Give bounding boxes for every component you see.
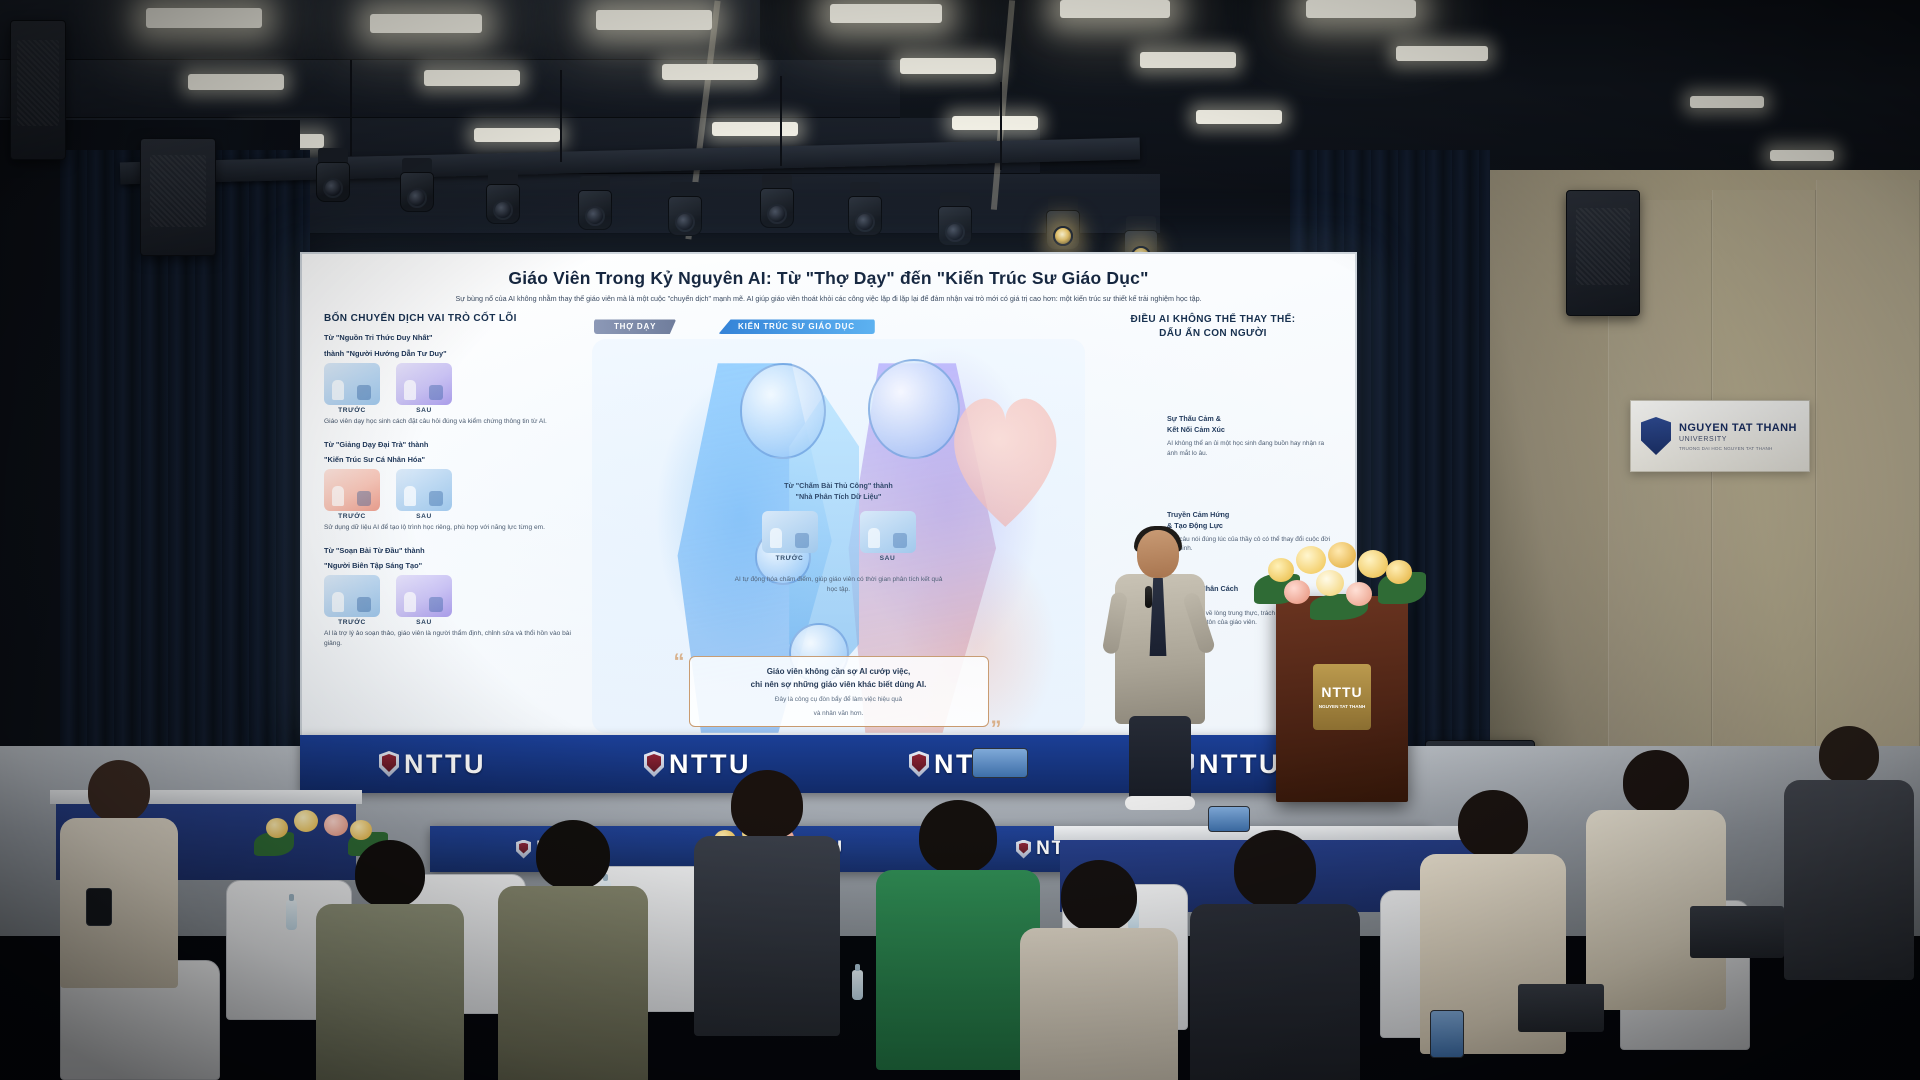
before-item: TRƯỚC <box>324 363 380 414</box>
audience-head <box>1819 726 1879 784</box>
audience-body <box>498 886 648 1080</box>
podium: NTTU NGUYEN TAT THANH <box>1276 596 1408 802</box>
ai-robot-icon <box>396 575 452 617</box>
audience-body <box>1190 904 1360 1080</box>
after-item: SAU <box>396 575 452 626</box>
tag-after-role: KIẾN TRÚC SƯ GIÁO DỤC <box>718 319 875 334</box>
quote-line1: Giáo viên không cần sợ AI cướp việc, <box>704 666 974 678</box>
presenter-trousers <box>1129 716 1191 802</box>
ceiling-light <box>900 58 996 74</box>
human-title-line1: Truyền Cảm Hứng <box>1167 510 1335 521</box>
smartphone[interactable] <box>86 888 112 926</box>
quote-callout: “ ” Giáo viên không cần sợ AI cướp việc,… <box>689 656 989 727</box>
conference-hall-photo: NGUYEN TAT THANH UNIVERSITY TRUONG DAI H… <box>0 0 1920 1080</box>
slide-subtitle-line2: các công việc lặp đi lặp lại để đảm nhận… <box>835 294 1202 303</box>
after-item: SAU <box>860 511 916 562</box>
personalized-learners-icon <box>396 469 452 511</box>
after-label: SAU <box>396 619 452 626</box>
audience-head <box>536 820 610 890</box>
flower <box>1346 582 1372 606</box>
audience-head <box>1234 830 1316 908</box>
audience-member <box>1784 726 1914 980</box>
ceiling-light <box>370 14 482 33</box>
audience-member <box>498 820 648 1080</box>
flower <box>1284 580 1310 604</box>
shift-title-line1: Từ "Nguồn Tri Thức Duy Nhất" <box>324 332 586 343</box>
after-label: SAU <box>396 407 452 414</box>
before-item: TRƯỚC <box>324 469 380 520</box>
mid-shift-title: Từ "Chấm Bài Thủ Công" thành "Nhà Phân T… <box>739 481 939 503</box>
mentor-ai-icon <box>396 363 452 405</box>
shift-block: Từ "Giảng Dạy Đại Trà" thành "Kiến Trúc … <box>324 439 586 533</box>
shift-title-line1: Từ "Soạn Bài Từ Đầu" thành <box>324 545 586 556</box>
after-label: SAU <box>396 513 452 520</box>
nttu-crest-icon <box>379 751 399 777</box>
presenter-head <box>1137 530 1179 578</box>
smartphone-recording[interactable] <box>972 748 1028 778</box>
shift-block: Từ "Nguồn Tri Thức Duy Nhất" thành "Ngườ… <box>324 332 586 426</box>
university-crest-icon <box>1641 417 1671 455</box>
audience-body <box>1784 780 1914 980</box>
wall-sign-line3: TRUONG DAI HOC NGUYEN TAT THANH <box>1679 446 1797 451</box>
shift-title-line2: "Kiến Trúc Sư Cá Nhân Hóa" <box>324 454 586 465</box>
quote-sub-line2: và nhân văn hơn. <box>704 709 974 719</box>
presenter-shoes <box>1125 796 1195 810</box>
presenter-person <box>1105 530 1215 810</box>
stage-light-fixture <box>400 158 434 212</box>
quote-open-mark: “ <box>674 651 685 673</box>
stage-light-fixture <box>316 148 350 202</box>
human-title-line2: Kết Nối Cảm Xúc <box>1167 425 1335 436</box>
slide-middle-column: THỢ DẠY KIẾN TRÚC SƯ GIÁO DỤC Từ "Chấm B… <box>586 313 1091 733</box>
shift-title-line2: thành "Người Hướng Dẫn Tư Duy" <box>324 348 586 359</box>
ceiling-light <box>1306 0 1416 18</box>
right-heading-line1: ĐIỀU AI KHÔNG THỂ THAY THẾ: <box>1091 313 1335 327</box>
audience-head <box>731 770 803 840</box>
ceiling-light <box>1060 0 1170 18</box>
mid-before-after-row: TRƯỚC SAU <box>731 509 947 563</box>
ceiling-light <box>1140 52 1236 68</box>
human-quality-item: Sự Thấu Cảm & Kết Nối Cảm Xúc AI không t… <box>1167 414 1335 458</box>
architect-figure-blob <box>868 359 960 459</box>
pa-speaker <box>1566 190 1640 316</box>
audience-member <box>694 770 840 1036</box>
audience-head <box>355 840 425 908</box>
ceiling-light <box>188 74 284 90</box>
shift-description: Giáo viên dạy học sinh cách đặt câu hỏi … <box>324 417 586 427</box>
ceiling-light <box>1770 150 1834 161</box>
before-label: TRƯỚC <box>324 513 380 520</box>
flower <box>294 810 318 832</box>
flower <box>266 818 288 838</box>
human-description: AI không thể an ủi một học sinh đang buồ… <box>1167 439 1335 458</box>
handheld-microphone <box>1145 586 1152 608</box>
right-heading-line2: DẤU ẤN CON NGƯỜI <box>1091 327 1335 341</box>
audience-head <box>1061 860 1137 932</box>
audience-member <box>316 840 464 1080</box>
water-bottle <box>286 900 297 930</box>
rig-cable <box>560 70 562 162</box>
slide-left-column: BỐN CHUYỂN DỊCH VAI TRÒ CỐT LÕI Từ "Nguồ… <box>316 313 586 733</box>
teacher-writing-icon <box>324 575 380 617</box>
flower <box>350 820 372 840</box>
analytics-dashboard-icon <box>860 511 916 553</box>
audience-body <box>876 870 1040 1070</box>
audience-member <box>1020 860 1178 1080</box>
stage-light-fixture <box>668 182 702 236</box>
slide-subtitle-line1: Sự bùng nổ của AI không nhằm thay thế gi… <box>455 294 833 303</box>
stage-light-fixture <box>848 182 882 236</box>
rig-cable <box>780 76 782 166</box>
flower <box>1296 546 1326 574</box>
water-bottle <box>852 970 863 1000</box>
ceiling-light <box>146 8 262 28</box>
before-label: TRƯỚC <box>324 407 380 414</box>
laptop[interactable] <box>1518 984 1604 1032</box>
audience-body <box>60 818 178 988</box>
podium-crest: NTTU NGUYEN TAT THANH <box>1313 664 1371 730</box>
shift-description: Sử dụng dữ liệu AI để tạo lộ trình học r… <box>324 523 586 533</box>
shift-title-line2: "Người Biên Tập Sáng Tạo" <box>324 560 586 571</box>
laptop[interactable] <box>1690 906 1784 958</box>
stage-light-fixture <box>938 192 972 246</box>
ceiling-light <box>662 64 758 80</box>
right-column-heading: ĐIỀU AI KHÔNG THỂ THAY THẾ: DẤU ẤN CON N… <box>1091 313 1335 340</box>
rig-cable <box>350 60 352 156</box>
audience-member <box>1586 750 1726 1010</box>
stage-light-fixture <box>578 176 612 230</box>
nttu-banner-text: NTTU <box>404 749 486 780</box>
before-after-row: TRƯỚC SAU <box>324 469 586 520</box>
quote-line2: chỉ nên sợ những giáo viên khác biết dùn… <box>704 679 974 691</box>
after-item: SAU <box>396 363 452 414</box>
flower <box>1316 570 1344 596</box>
flower <box>1328 542 1356 568</box>
flower <box>1358 550 1388 578</box>
human-title-line1: Sự Thấu Cảm & <box>1167 414 1335 425</box>
slide-title: Giáo Viên Trong Kỷ Nguyên AI: Từ "Thợ Dạ… <box>316 268 1341 289</box>
audience-head <box>919 800 997 874</box>
flower <box>1386 560 1412 584</box>
smartphone-recording[interactable] <box>1208 806 1250 832</box>
wall-panel <box>1712 190 1816 810</box>
megaphone-crowd-icon <box>324 469 380 511</box>
wall-sign-line1: NGUYEN TAT THANH <box>1679 422 1797 434</box>
stage-light-fixture <box>760 174 794 228</box>
audience-body <box>1020 928 1178 1080</box>
ceiling-light <box>1690 96 1764 108</box>
after-item: SAU <box>396 469 452 520</box>
before-label: TRƯỚC <box>324 619 380 626</box>
shift-description: AI là trợ lý ảo soạn thảo, giáo viên là … <box>324 629 586 649</box>
ceiling-light <box>952 116 1038 130</box>
ceiling-light <box>596 10 712 30</box>
audience-body <box>694 836 840 1036</box>
stage-light-fixture-lit <box>1046 196 1080 250</box>
rig-cable <box>1000 82 1002 170</box>
audience-head <box>88 760 150 822</box>
university-wall-sign: NGUYEN TAT THANH UNIVERSITY TRUONG DAI H… <box>1630 400 1810 472</box>
audience-member <box>1190 830 1360 1080</box>
wall-panel <box>1816 180 1920 820</box>
mid-shift-description: AI tự động hóa chấm điểm, giúp giáo viên… <box>734 575 944 595</box>
left-column-heading: BỐN CHUYỂN DỊCH VAI TRÒ CỐT LÕI <box>324 313 586 324</box>
audience-head <box>1623 750 1689 814</box>
podium-crest-text: NTTU <box>1321 684 1362 700</box>
stage-light-fixture <box>486 170 520 224</box>
quote-sub-line1: Đây là công cụ đòn bẩy để làm việc hiệu … <box>704 695 974 705</box>
nttu-crest-icon <box>909 751 929 777</box>
mid-shift-title-line2: "Nhà Phân Tích Dữ Liệu" <box>739 492 939 503</box>
podium-crest-sub: NGUYEN TAT THANH <box>1319 704 1366 710</box>
paper-stack-icon <box>762 511 818 553</box>
audience-body <box>316 904 464 1080</box>
slide-subtitle: Sự bùng nổ của AI không nhằm thay thế gi… <box>316 294 1341 304</box>
tag-before-role: THỢ DẠY <box>594 319 676 334</box>
ceiling-light <box>1196 110 1282 124</box>
before-item: TRƯỚC <box>324 575 380 626</box>
after-label: SAU <box>860 555 916 562</box>
before-item: TRƯỚC <box>762 511 818 562</box>
shift-title-line1: Từ "Giảng Dạy Đại Trà" thành <box>324 439 586 450</box>
nttu-logo-unit: NTTU <box>379 749 486 780</box>
flower <box>324 814 348 836</box>
smartphone-screen[interactable] <box>1430 1010 1464 1058</box>
ceiling-light <box>424 70 520 86</box>
ceiling-light <box>830 4 942 23</box>
audience-member <box>60 760 178 988</box>
podium-flower-arrangement <box>1250 540 1430 620</box>
ceiling-light <box>474 128 560 142</box>
before-after-row: TRƯỚC SAU <box>324 575 586 626</box>
nttu-crest-icon <box>644 751 664 777</box>
teacher-figure-blob <box>740 363 826 459</box>
pa-speaker <box>10 20 66 160</box>
before-after-row: TRƯỚC SAU <box>324 363 586 414</box>
before-after-row: TRƯỚC SAU <box>731 511 947 562</box>
wall-sign-line2: UNIVERSITY <box>1679 436 1797 443</box>
audience-member <box>876 800 1040 1070</box>
pa-speaker <box>140 138 216 256</box>
flower <box>1268 558 1294 582</box>
ceiling-bay <box>0 60 900 118</box>
shift-block: Từ "Soạn Bài Từ Đầu" thành "Người Biên T… <box>324 545 586 649</box>
audience-head <box>1458 790 1528 858</box>
before-label: TRƯỚC <box>762 555 818 562</box>
ceiling-light <box>1396 46 1488 61</box>
mid-shift-title-line1: Từ "Chấm Bài Thủ Công" thành <box>739 481 939 492</box>
books-icon <box>324 363 380 405</box>
ceiling-light <box>712 122 798 136</box>
